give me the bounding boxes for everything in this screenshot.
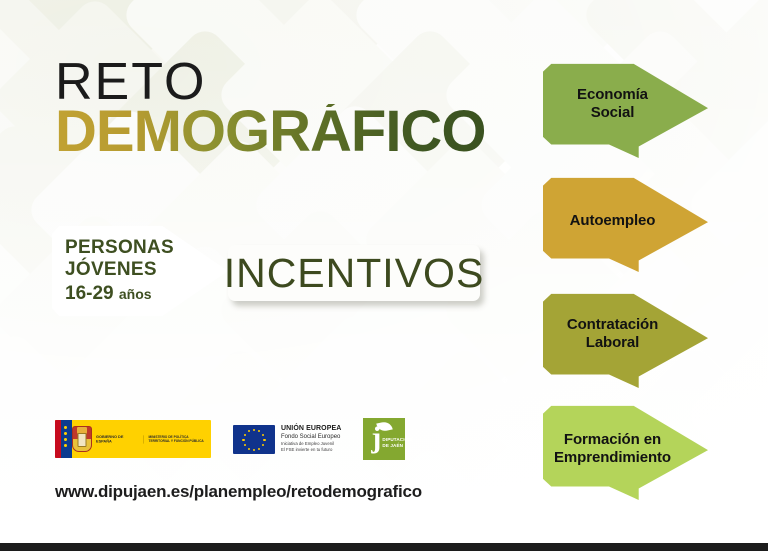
spanish-flag-icon <box>55 420 70 458</box>
eu-flag-icon <box>233 425 275 454</box>
arrow-label: Contratación Laboral <box>567 316 658 351</box>
diputacion-j-glyph: j <box>371 423 381 453</box>
arrow-label-line2: Emprendimiento <box>554 449 671 467</box>
arrow-label-line1: Autoempleo <box>570 212 656 230</box>
gobierno-title: GOBIERNO DE ESPAÑA <box>96 434 136 443</box>
logo-row: GOBIERNO DE ESPAÑA MINISTERIO DE POLÍTIC… <box>55 418 405 460</box>
bottom-bar <box>0 543 768 551</box>
arrow-label-line1: Formación en <box>554 431 671 449</box>
diputacion-line2: DE JAÉN <box>382 443 411 449</box>
eu-subtitle: Fondo Social Europeo <box>281 434 341 442</box>
page-title: RETO DEMOGRÁFICO <box>55 58 485 160</box>
arrow-label-line2: Social <box>577 104 648 122</box>
ministerio-title: MINISTERIO DE POLÍTICA TERRITORIAL Y FUN… <box>143 435 206 443</box>
logo-diputacion-de-jaen: j DIPUTACIÓN DE JAÉN <box>363 418 405 460</box>
gobierno-text: GOBIERNO DE ESPAÑA MINISTERIO DE POLÍTIC… <box>94 420 211 458</box>
logo-gobierno-de-espana: GOBIERNO DE ESPAÑA MINISTERIO DE POLÍTIC… <box>55 420 211 458</box>
badge-age-unit: años <box>119 286 152 302</box>
arrow-label-line2: Laboral <box>567 334 658 352</box>
arrow-label: Formación en Emprendimiento <box>554 425 671 466</box>
poster-canvas: RETO DEMOGRÁFICO PERSONAS JÓVENES 16-29 … <box>0 0 768 551</box>
logo-union-europea: UNIÓN EUROPEA Fondo Social Europeo Inici… <box>233 425 341 454</box>
arrow-label: Economía Social <box>577 86 648 121</box>
badge-line-jovenes: JÓVENES <box>65 259 157 280</box>
eu-title: UNIÓN EUROPEA <box>281 425 341 434</box>
arrow-label: Autoempleo <box>570 206 656 230</box>
badge-age-number: 16-29 <box>65 283 114 304</box>
website-url[interactable]: www.dipujaen.es/planempleo/retodemografi… <box>55 482 422 502</box>
diputacion-mark-icon: j DIPUTACIÓN DE JAÉN <box>363 418 405 460</box>
plaque-label: INCENTIVOS <box>224 250 485 297</box>
diputacion-text: DIPUTACIÓN DE JAÉN <box>382 437 411 449</box>
arrow-label-line1: Economía <box>577 86 648 104</box>
spanish-coat-of-arms-icon <box>70 420 94 458</box>
eu-text-block: UNIÓN EUROPEA Fondo Social Europeo Inici… <box>281 425 341 453</box>
badge-line-personas: PERSONAS <box>65 237 174 258</box>
eu-line4: El FSE invierte en tu futuro <box>281 447 341 453</box>
badge-age-range: 16-29 años <box>65 283 152 305</box>
plaque-incentivos: INCENTIVOS <box>228 245 480 301</box>
title-line-demografico: DEMOGRÁFICO <box>55 104 485 160</box>
arrow-label-line1: Contratación <box>567 316 658 334</box>
